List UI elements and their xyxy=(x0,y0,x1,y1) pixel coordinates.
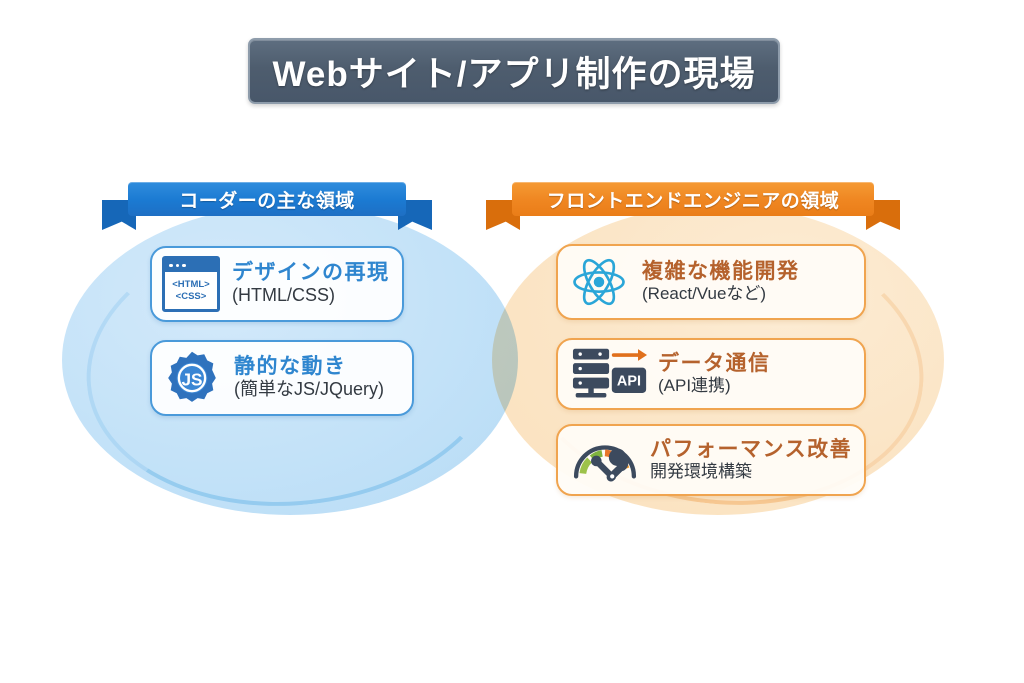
diagram-canvas: Webサイト/アプリ制作の現場 コーダーの主な領域 フロントエンドエンジニアの領… xyxy=(0,0,1024,683)
card-title: 複雑な機能開発 xyxy=(642,260,800,284)
card-subtitle: (React/Vueなど) xyxy=(642,284,800,304)
ribbon-frontend: フロントエンドエンジニアの領域 xyxy=(512,182,874,216)
card-data-communication: API データ通信 (API連携) xyxy=(556,338,866,410)
ribbon-coder-label: コーダーの主な領域 xyxy=(128,182,406,216)
card-static-motion: JS 静的な動き (簡単なJS/JQuery) xyxy=(150,340,414,416)
ribbon-coder: コーダーの主な領域 xyxy=(128,182,406,216)
card-design-reproduction: <HTML> <CSS> デザインの再現 (HTML/CSS) xyxy=(150,246,404,322)
card-title: データ通信 xyxy=(658,352,771,376)
browser-html-css-icon: <HTML> <CSS> xyxy=(162,256,220,312)
react-atom-icon xyxy=(570,254,628,310)
svg-text:API: API xyxy=(617,374,641,390)
svg-text:JS: JS xyxy=(181,370,202,390)
js-gear-icon: JS xyxy=(162,349,222,407)
card-title: パフォーマンス改善 xyxy=(650,438,852,462)
card-subtitle: (HTML/CSS) xyxy=(232,285,390,307)
card-performance-improvement: パフォーマンス改善 開発環境構築 xyxy=(556,424,866,496)
browser-icon-line-2: <CSS> xyxy=(176,291,207,302)
browser-icon-line-1: <HTML> xyxy=(172,279,209,290)
card-title: デザインの再現 xyxy=(232,261,390,285)
ribbon-frontend-label: フロントエンドエンジニアの領域 xyxy=(512,182,874,216)
page-title: Webサイト/アプリ制作の現場 xyxy=(273,46,756,97)
card-subtitle: (簡単なJS/JQuery) xyxy=(234,379,384,401)
card-subtitle: (API連携) xyxy=(658,376,771,396)
performance-gauge-wrench-icon xyxy=(570,434,640,486)
server-api-icon: API xyxy=(570,346,650,402)
card-subtitle: 開発環境構築 xyxy=(650,462,852,482)
card-complex-feature-dev: 複雑な機能開発 (React/Vueなど) xyxy=(556,244,866,320)
card-title: 静的な動き xyxy=(234,355,384,379)
page-title-banner: Webサイト/アプリ制作の現場 xyxy=(248,38,780,104)
